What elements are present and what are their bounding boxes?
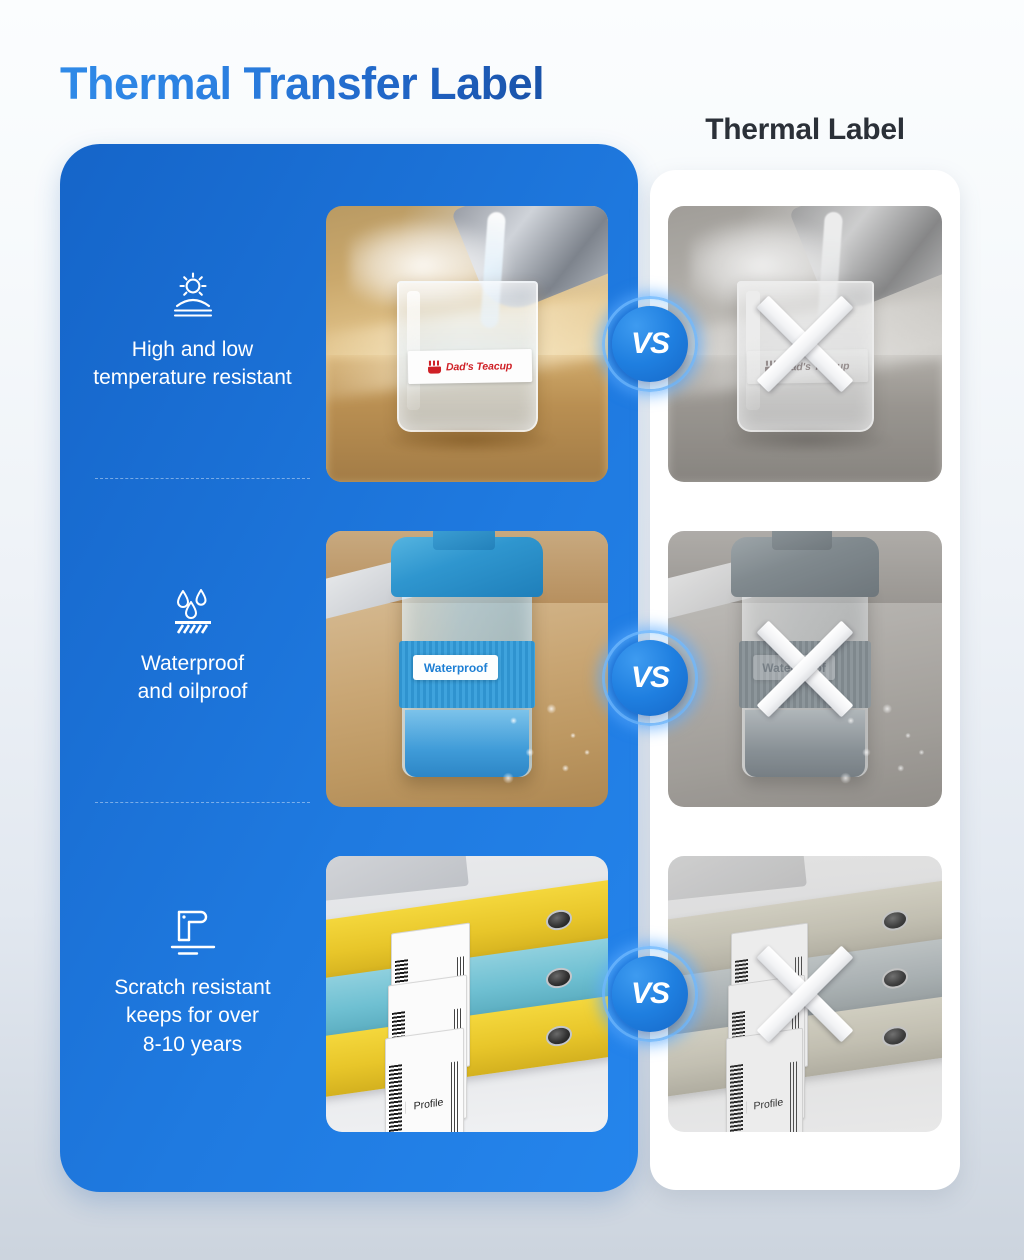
label-text: Dad's Teacup [446, 359, 512, 372]
feature-line: High and low [66, 336, 319, 364]
feature-divider [95, 478, 310, 479]
feature-divider [95, 802, 310, 803]
page-title: Thermal Transfer Label [60, 58, 544, 110]
binder-ring-hole [547, 966, 573, 990]
glass-shadow [723, 427, 893, 455]
photo-waterproof-transfer: Waterproof [326, 531, 608, 807]
label-text: Profile [405, 1095, 451, 1113]
feature-line: Waterproof [66, 650, 319, 678]
tumbler-spout [433, 531, 495, 550]
feature-block-waterproof: Waterproof and oilproof [60, 576, 325, 707]
vs-badge-row-1: VS [612, 306, 688, 382]
binder-ring-hole [882, 967, 908, 991]
vs-circle: VS [612, 640, 688, 716]
background-device [326, 856, 469, 903]
vs-circle: VS [612, 956, 688, 1032]
label-text: Dad's Teacup [783, 359, 849, 372]
binder-spine-label: Profile [385, 1027, 464, 1132]
water-droplets [830, 691, 934, 790]
product-label-waterproof-faded: Waterproof [753, 655, 835, 680]
product-label-waterproof: Waterproof [413, 655, 498, 680]
label-text: Waterproof [762, 661, 826, 675]
water-drops-on-surface-icon [60, 576, 325, 634]
photo-temperature-transfer: Dad's Teacup [326, 206, 608, 482]
water-droplets [492, 691, 599, 790]
binder-ring-hole [882, 909, 908, 933]
sun-over-surface-icon [60, 262, 325, 320]
steaming-cup-icon [765, 360, 778, 373]
vs-badge-row-3: VS [612, 956, 688, 1032]
binder-ring-hole [547, 908, 573, 932]
label-text: Waterproof [424, 661, 488, 675]
feature-text-scratch: Scratch resistant keeps for over 8-10 ye… [60, 974, 325, 1059]
barcode-icon [451, 1060, 460, 1132]
feature-line: keeps for over [66, 1002, 319, 1030]
barcode-icon [789, 1061, 798, 1132]
photo-temperature-thermal: Dad's Teacup [668, 206, 942, 482]
feature-line: and oilproof [66, 678, 319, 706]
feature-block-scratch: Scratch resistant keeps for over 8-10 ye… [60, 900, 325, 1059]
steaming-cup-icon [428, 360, 441, 373]
glass-shadow [382, 427, 557, 455]
background-device [668, 856, 807, 903]
label-text: Profile [746, 1095, 790, 1113]
scratch-tool-icon [60, 900, 325, 958]
vs-label: VS [631, 977, 669, 1011]
feature-line: 8-10 years [66, 1031, 319, 1059]
barcode-icon [389, 1064, 402, 1132]
vs-label: VS [631, 661, 669, 695]
product-label-teacup-faded: Dad's Teacup [747, 348, 868, 383]
binder-ring-hole [547, 1024, 573, 1048]
product-label-teacup: Dad's Teacup [407, 348, 532, 383]
vs-label: VS [631, 327, 669, 361]
barcode-icon [730, 1064, 743, 1132]
feature-text-waterproof: Waterproof and oilproof [60, 650, 325, 707]
binder-spine-label: Profile [726, 1027, 803, 1132]
tumbler-spout [772, 531, 832, 550]
feature-text-temperature: High and low temperature resistant [60, 336, 325, 393]
vs-badge-row-2: VS [612, 640, 688, 716]
feature-line: Scratch resistant [66, 974, 319, 1002]
vs-circle: VS [612, 306, 688, 382]
photo-waterproof-thermal: Waterproof [668, 531, 942, 807]
comparison-column-title: Thermal Label [650, 113, 960, 147]
photo-scratch-thermal: Voiture Contract Profile [668, 856, 942, 1132]
binder-ring-hole [882, 1025, 908, 1049]
photo-scratch-transfer: Voiture Contract Profile [326, 856, 608, 1132]
feature-block-temperature: High and low temperature resistant [60, 262, 325, 393]
feature-line: temperature resistant [66, 364, 319, 392]
